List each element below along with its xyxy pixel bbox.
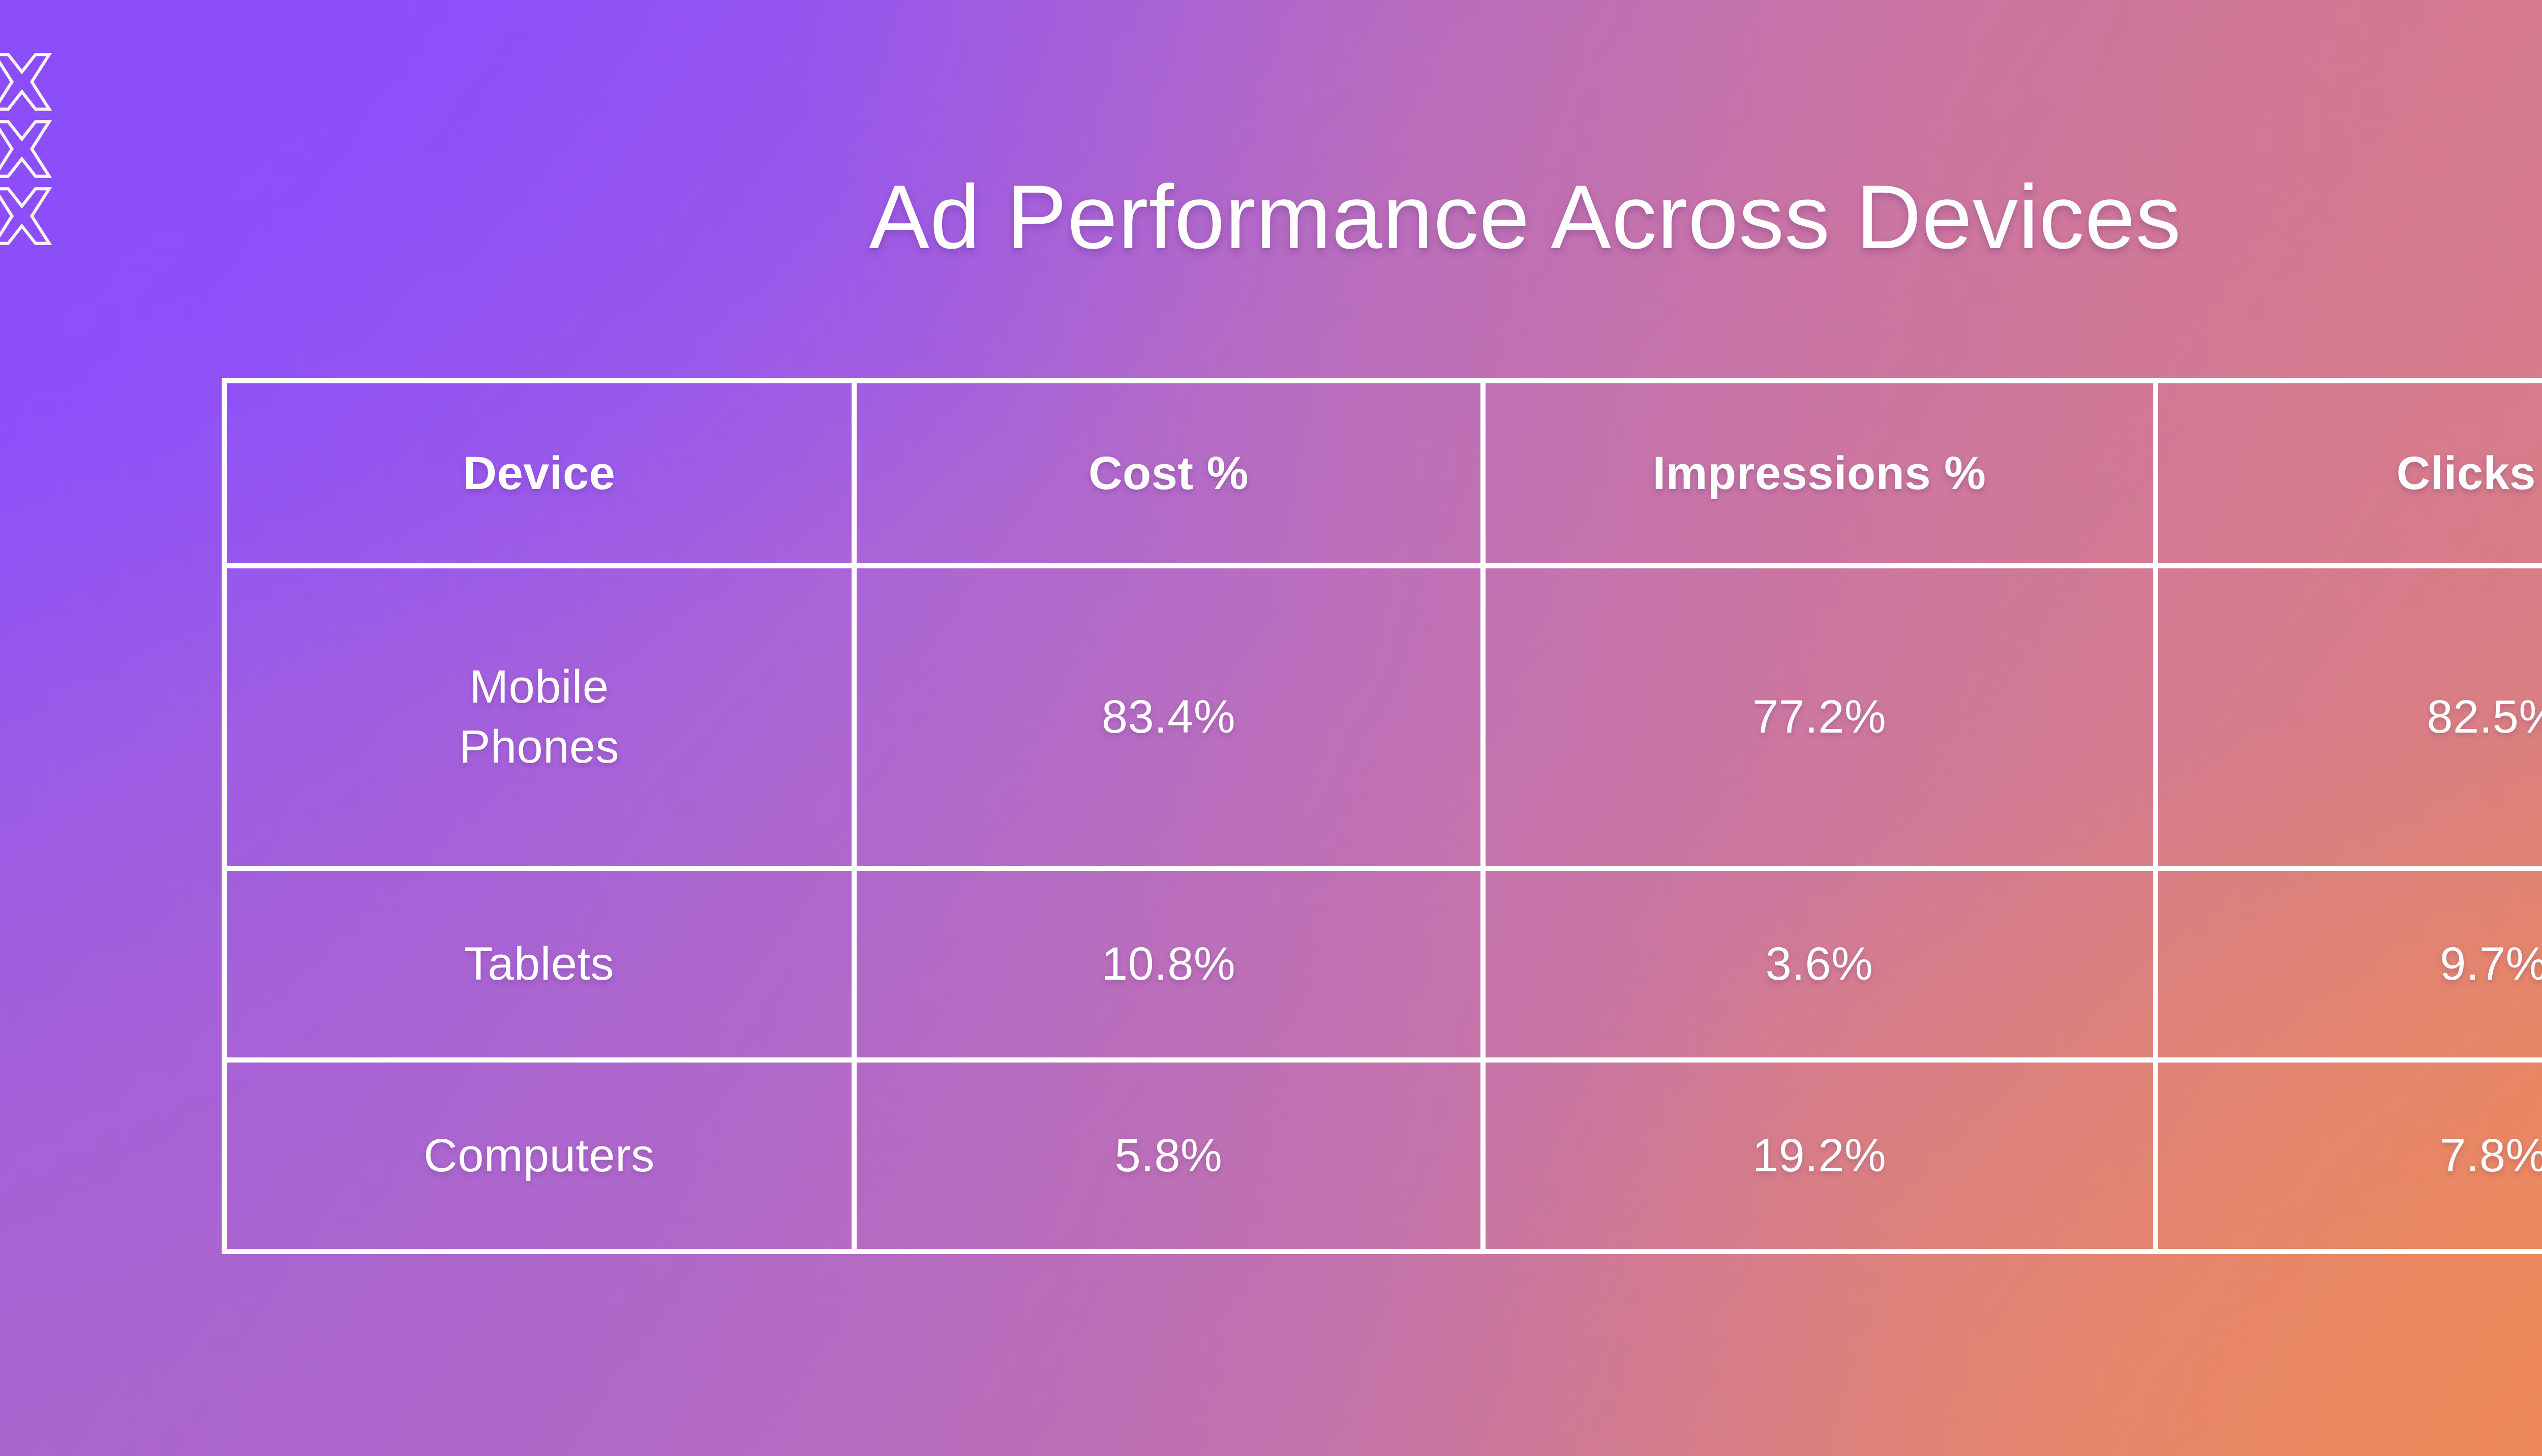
cell-device: Computers (224, 1060, 854, 1252)
cell-impressions: 19.2% (1483, 1060, 2156, 1252)
cell-cost: 10.8% (854, 868, 1483, 1060)
table-row: Computers 5.8% 19.2% 7.8% (224, 1060, 2542, 1252)
column-header-cost: Cost % (854, 381, 1483, 566)
page-title: Ad Performance Across Devices (0, 167, 2542, 267)
ad-performance-table: Device Cost % Impressions % Clicks % Mob… (222, 378, 2542, 1254)
table-row: MobilePhones 83.4% 77.2% 82.5% (224, 566, 2542, 868)
cell-device: Tablets (224, 868, 854, 1060)
table-header-row: Device Cost % Impressions % Clicks % (224, 381, 2542, 566)
cell-impressions: 77.2% (1483, 566, 2156, 868)
column-header-clicks: Clicks % (2156, 381, 2542, 566)
column-header-impressions: Impressions % (1483, 381, 2156, 566)
slide-canvas: Ad Performance Across Devices Device Cos… (0, 0, 2542, 1456)
column-header-device: Device (224, 381, 854, 566)
cell-clicks: 7.8% (2156, 1060, 2542, 1252)
table-body: MobilePhones 83.4% 77.2% 82.5% Tablets 1… (224, 566, 2542, 1252)
cell-impressions: 3.6% (1483, 868, 2156, 1060)
cell-cost: 83.4% (854, 566, 1483, 868)
cell-clicks: 9.7% (2156, 868, 2542, 1060)
table-row: Tablets 10.8% 3.6% 9.7% (224, 868, 2542, 1060)
cell-clicks: 82.5% (2156, 566, 2542, 868)
x-cross-outline-icon (0, 51, 53, 113)
table-header: Device Cost % Impressions % Clicks % (224, 381, 2542, 566)
cell-device: MobilePhones (224, 566, 854, 868)
cell-cost: 5.8% (854, 1060, 1483, 1252)
